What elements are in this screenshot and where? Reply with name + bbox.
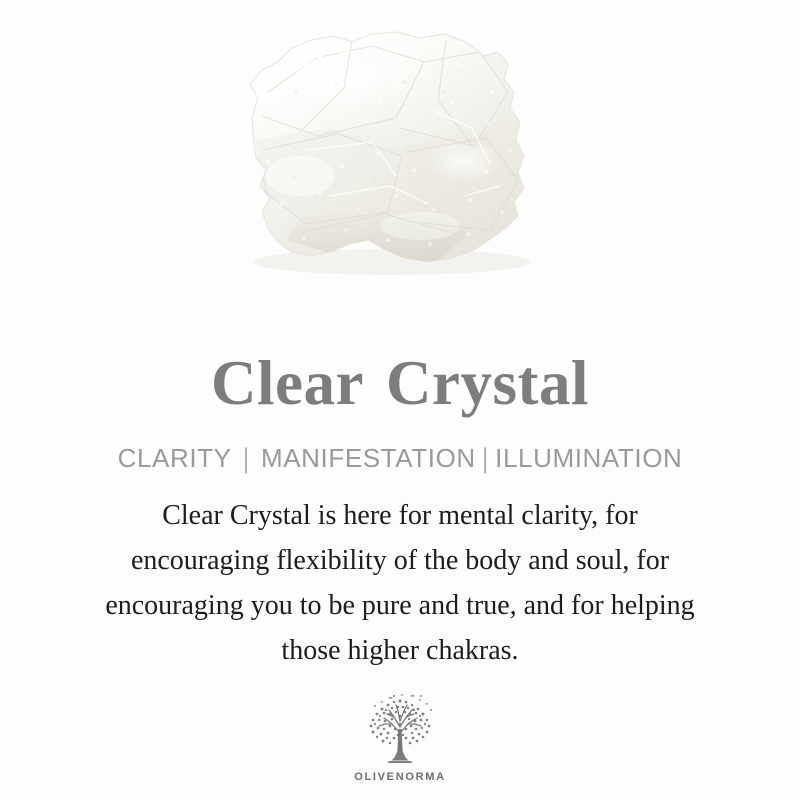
keyword-separator-1: | xyxy=(243,444,250,471)
description-line: encouraging you to be pure and true, and… xyxy=(40,583,760,628)
keyword-illumination: ILLUMINATION xyxy=(495,443,682,473)
crystal-image-stage xyxy=(0,0,800,300)
brand-name: OLIVENORMA xyxy=(354,772,446,783)
description-line: encouraging flexibility of the body and … xyxy=(40,538,760,583)
keyword-manifestation: MANIFESTATION xyxy=(261,443,476,473)
keyword-separator-2: | xyxy=(482,444,489,471)
title-word-1: Clear xyxy=(211,348,364,418)
product-info-card: ClearCrystal CLARITY|MANIFESTATION|ILLUM… xyxy=(0,0,800,800)
brand-logo: OLIVENORMA xyxy=(354,693,446,783)
description-line: Clear Crystal is here for mental clarity… xyxy=(40,493,760,538)
keyword-clarity: CLARITY xyxy=(118,443,232,473)
keyword-list: CLARITY|MANIFESTATION|ILLUMINATION xyxy=(0,445,800,471)
title-word-2: Crystal xyxy=(386,348,589,418)
tree-icon xyxy=(354,693,446,771)
description-line: those higher chakras. xyxy=(40,628,760,673)
clear-crystal-image xyxy=(0,0,800,300)
product-description: Clear Crystal is here for mental clarity… xyxy=(40,493,760,673)
page-title: ClearCrystal xyxy=(0,352,800,415)
